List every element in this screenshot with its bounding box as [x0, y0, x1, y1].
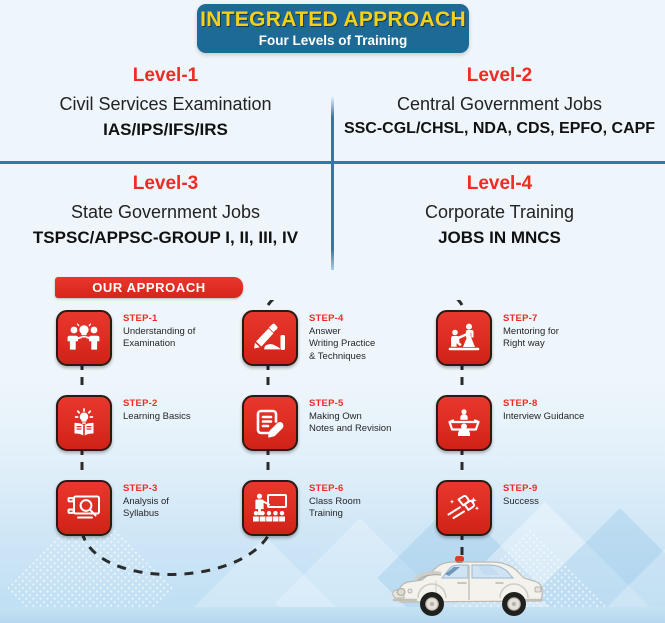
handshake-sparkle-icon — [436, 480, 492, 536]
steps-flow: STEP-1 Understanding of Examination STEP… — [0, 300, 665, 570]
level-card-1: Level-1 Civil Services Examination IAS/I… — [0, 56, 331, 161]
step-2-label: Learning Basics — [123, 411, 191, 424]
step-item-2: STEP-2 Learning Basics — [56, 395, 191, 451]
level-1-description: Civil Services Examination — [0, 94, 331, 115]
step-1-label: Understanding of Examination — [123, 326, 195, 351]
level-4-description: Corporate Training — [334, 202, 665, 223]
level-2-exams: SSC-CGL/CHSL, NDA, CDS, EPFO, CAPF — [334, 120, 665, 138]
teacher-board-icon — [242, 480, 298, 536]
step-9-number: STEP-9 — [503, 483, 539, 495]
step-2-number: STEP-2 — [123, 398, 191, 410]
level-1-exams: IAS/IPS/IFS/IRS — [0, 120, 331, 140]
header-badge: INTEGRATED APPROACH Four Levels of Train… — [197, 4, 469, 53]
screen-magnifier-icon — [56, 480, 112, 536]
step-3-number: STEP-3 — [123, 483, 169, 495]
level-3-exams: TSPSC/APPSC-GROUP I, II, III, IV — [0, 228, 331, 248]
level-1-title: Level-1 — [0, 66, 331, 87]
step-item-4: STEP-4 Answer Writing Practice & Techniq… — [242, 310, 375, 366]
our-approach-label: OUR APPROACH — [92, 280, 206, 295]
step-6-number: STEP-6 — [309, 483, 361, 495]
step-item-5: STEP-5 Making Own Notes and Revision — [242, 395, 391, 451]
bottom-strip — [0, 607, 665, 623]
step-7-number: STEP-7 — [503, 313, 559, 325]
level-card-4: Level-4 Corporate Training JOBS IN MNCS — [334, 164, 665, 269]
level-4-exams: JOBS IN MNCS — [334, 228, 665, 248]
step-7-label: Mentoring for Right way — [503, 326, 559, 351]
step-8-number: STEP-8 — [503, 398, 584, 410]
poster-root: INTEGRATED APPROACH Four Levels of Train… — [0, 0, 665, 623]
level-4-title: Level-4 — [334, 174, 665, 195]
people-idea-icon — [56, 310, 112, 366]
step-8-label: Interview Guidance — [503, 411, 584, 424]
level-2-description: Central Government Jobs — [334, 94, 665, 115]
ambassador-car-illustration — [392, 552, 547, 618]
page-title: INTEGRATED APPROACH — [200, 9, 466, 30]
step-5-label: Making Own Notes and Revision — [309, 411, 391, 436]
page-subtitle: Four Levels of Training — [259, 34, 408, 48]
level-3-description: State Government Jobs — [0, 202, 331, 223]
interview-panel-icon — [436, 395, 492, 451]
our-approach-ribbon: OUR APPROACH — [55, 277, 243, 298]
level-3-title: Level-3 — [0, 174, 331, 195]
hand-writing-icon — [242, 310, 298, 366]
step-item-7: STEP-7 Mentoring for Right way — [436, 310, 559, 366]
step-item-6: STEP-6 Class Room Training — [242, 480, 361, 536]
step-1-number: STEP-1 — [123, 313, 195, 325]
step-4-label: Answer Writing Practice & Techniques — [309, 326, 375, 364]
step-4-number: STEP-4 — [309, 313, 375, 325]
step-5-number: STEP-5 — [309, 398, 391, 410]
step-6-label: Class Room Training — [309, 496, 361, 521]
levels-grid: Level-1 Civil Services Examination IAS/I… — [0, 56, 665, 270]
level-card-2: Level-2 Central Government Jobs SSC-CGL/… — [334, 56, 665, 161]
step-9-label: Success — [503, 496, 539, 509]
step-item-9: STEP-9 Success — [436, 480, 539, 536]
note-pencil-icon — [242, 395, 298, 451]
step-item-3: STEP-3 Analysis of Syllabus — [56, 480, 169, 536]
mentor-help-icon — [436, 310, 492, 366]
book-bulb-icon — [56, 395, 112, 451]
step-3-label: Analysis of Syllabus — [123, 496, 169, 521]
level-2-title: Level-2 — [334, 66, 665, 87]
step-item-8: STEP-8 Interview Guidance — [436, 395, 584, 451]
level-card-3: Level-3 State Government Jobs TSPSC/APPS… — [0, 164, 331, 269]
step-item-1: STEP-1 Understanding of Examination — [56, 310, 195, 366]
